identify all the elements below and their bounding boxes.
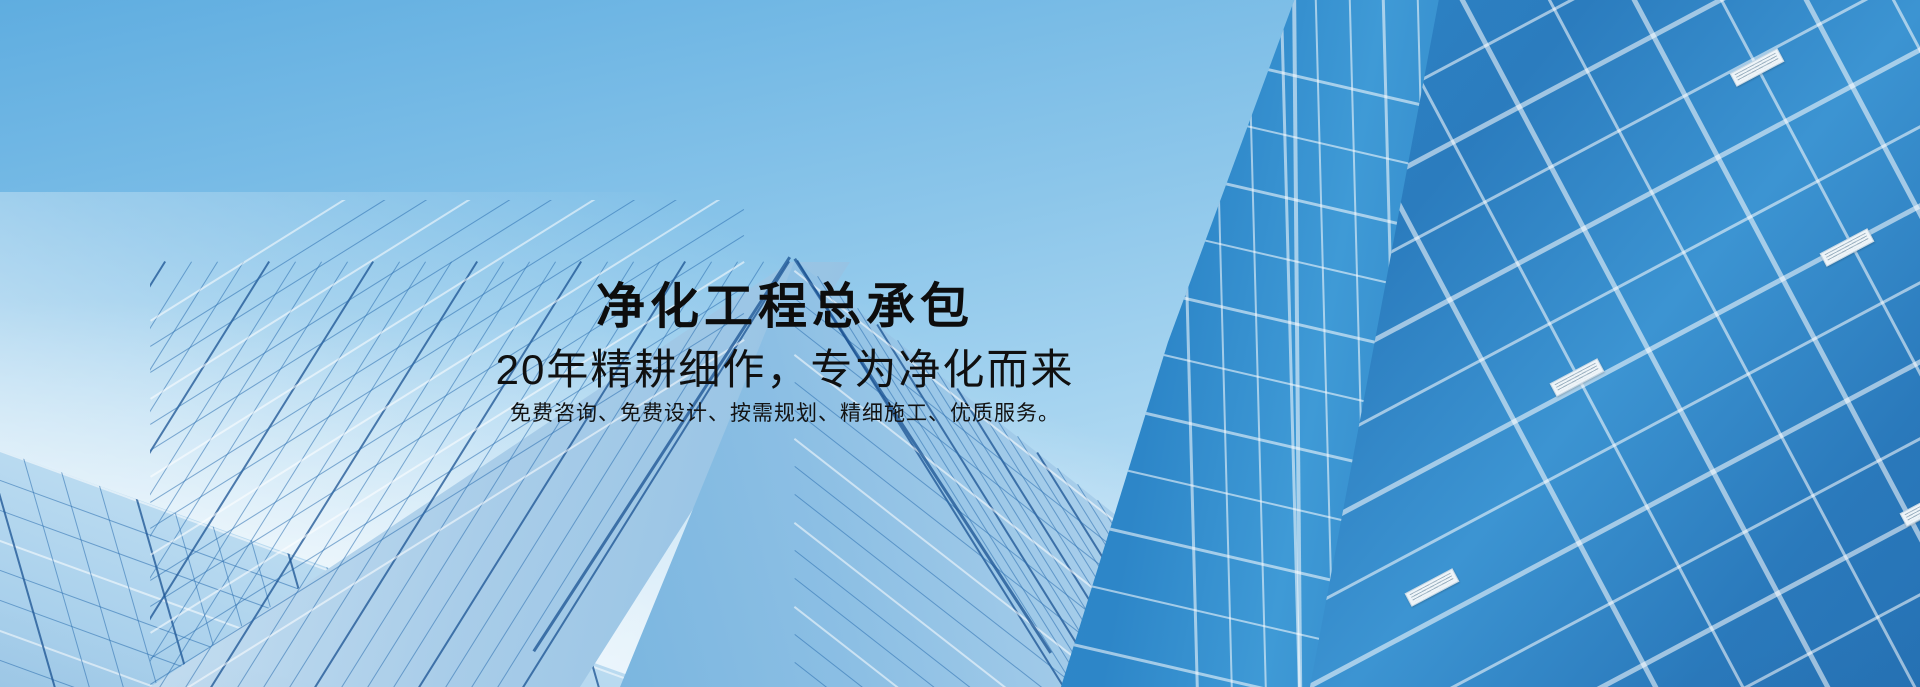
banner-copy: 净化工程总承包 20年精耕细作，专为净化而来 免费咨询、免费设计、按需规划、精细… [0, 283, 1570, 424]
center-pyramid-building [150, 200, 1210, 687]
banner-subheadline: 20年精耕细作，专为净化而来 [0, 349, 1570, 391]
hero-banner: 净化工程总承包 20年精耕细作，专为净化而来 免费咨询、免费设计、按需规划、精细… [0, 0, 1920, 687]
mullion-line [1840, 0, 1920, 687]
mullion-line [1300, 462, 1920, 687]
mullion-line [1580, 0, 1920, 687]
banner-tagline: 免费咨询、免费设计、按需规划、精细施工、优质服务。 [0, 403, 1570, 424]
banner-headline: 净化工程总承包 [0, 283, 1570, 332]
facade-louver-unit [1405, 568, 1460, 607]
